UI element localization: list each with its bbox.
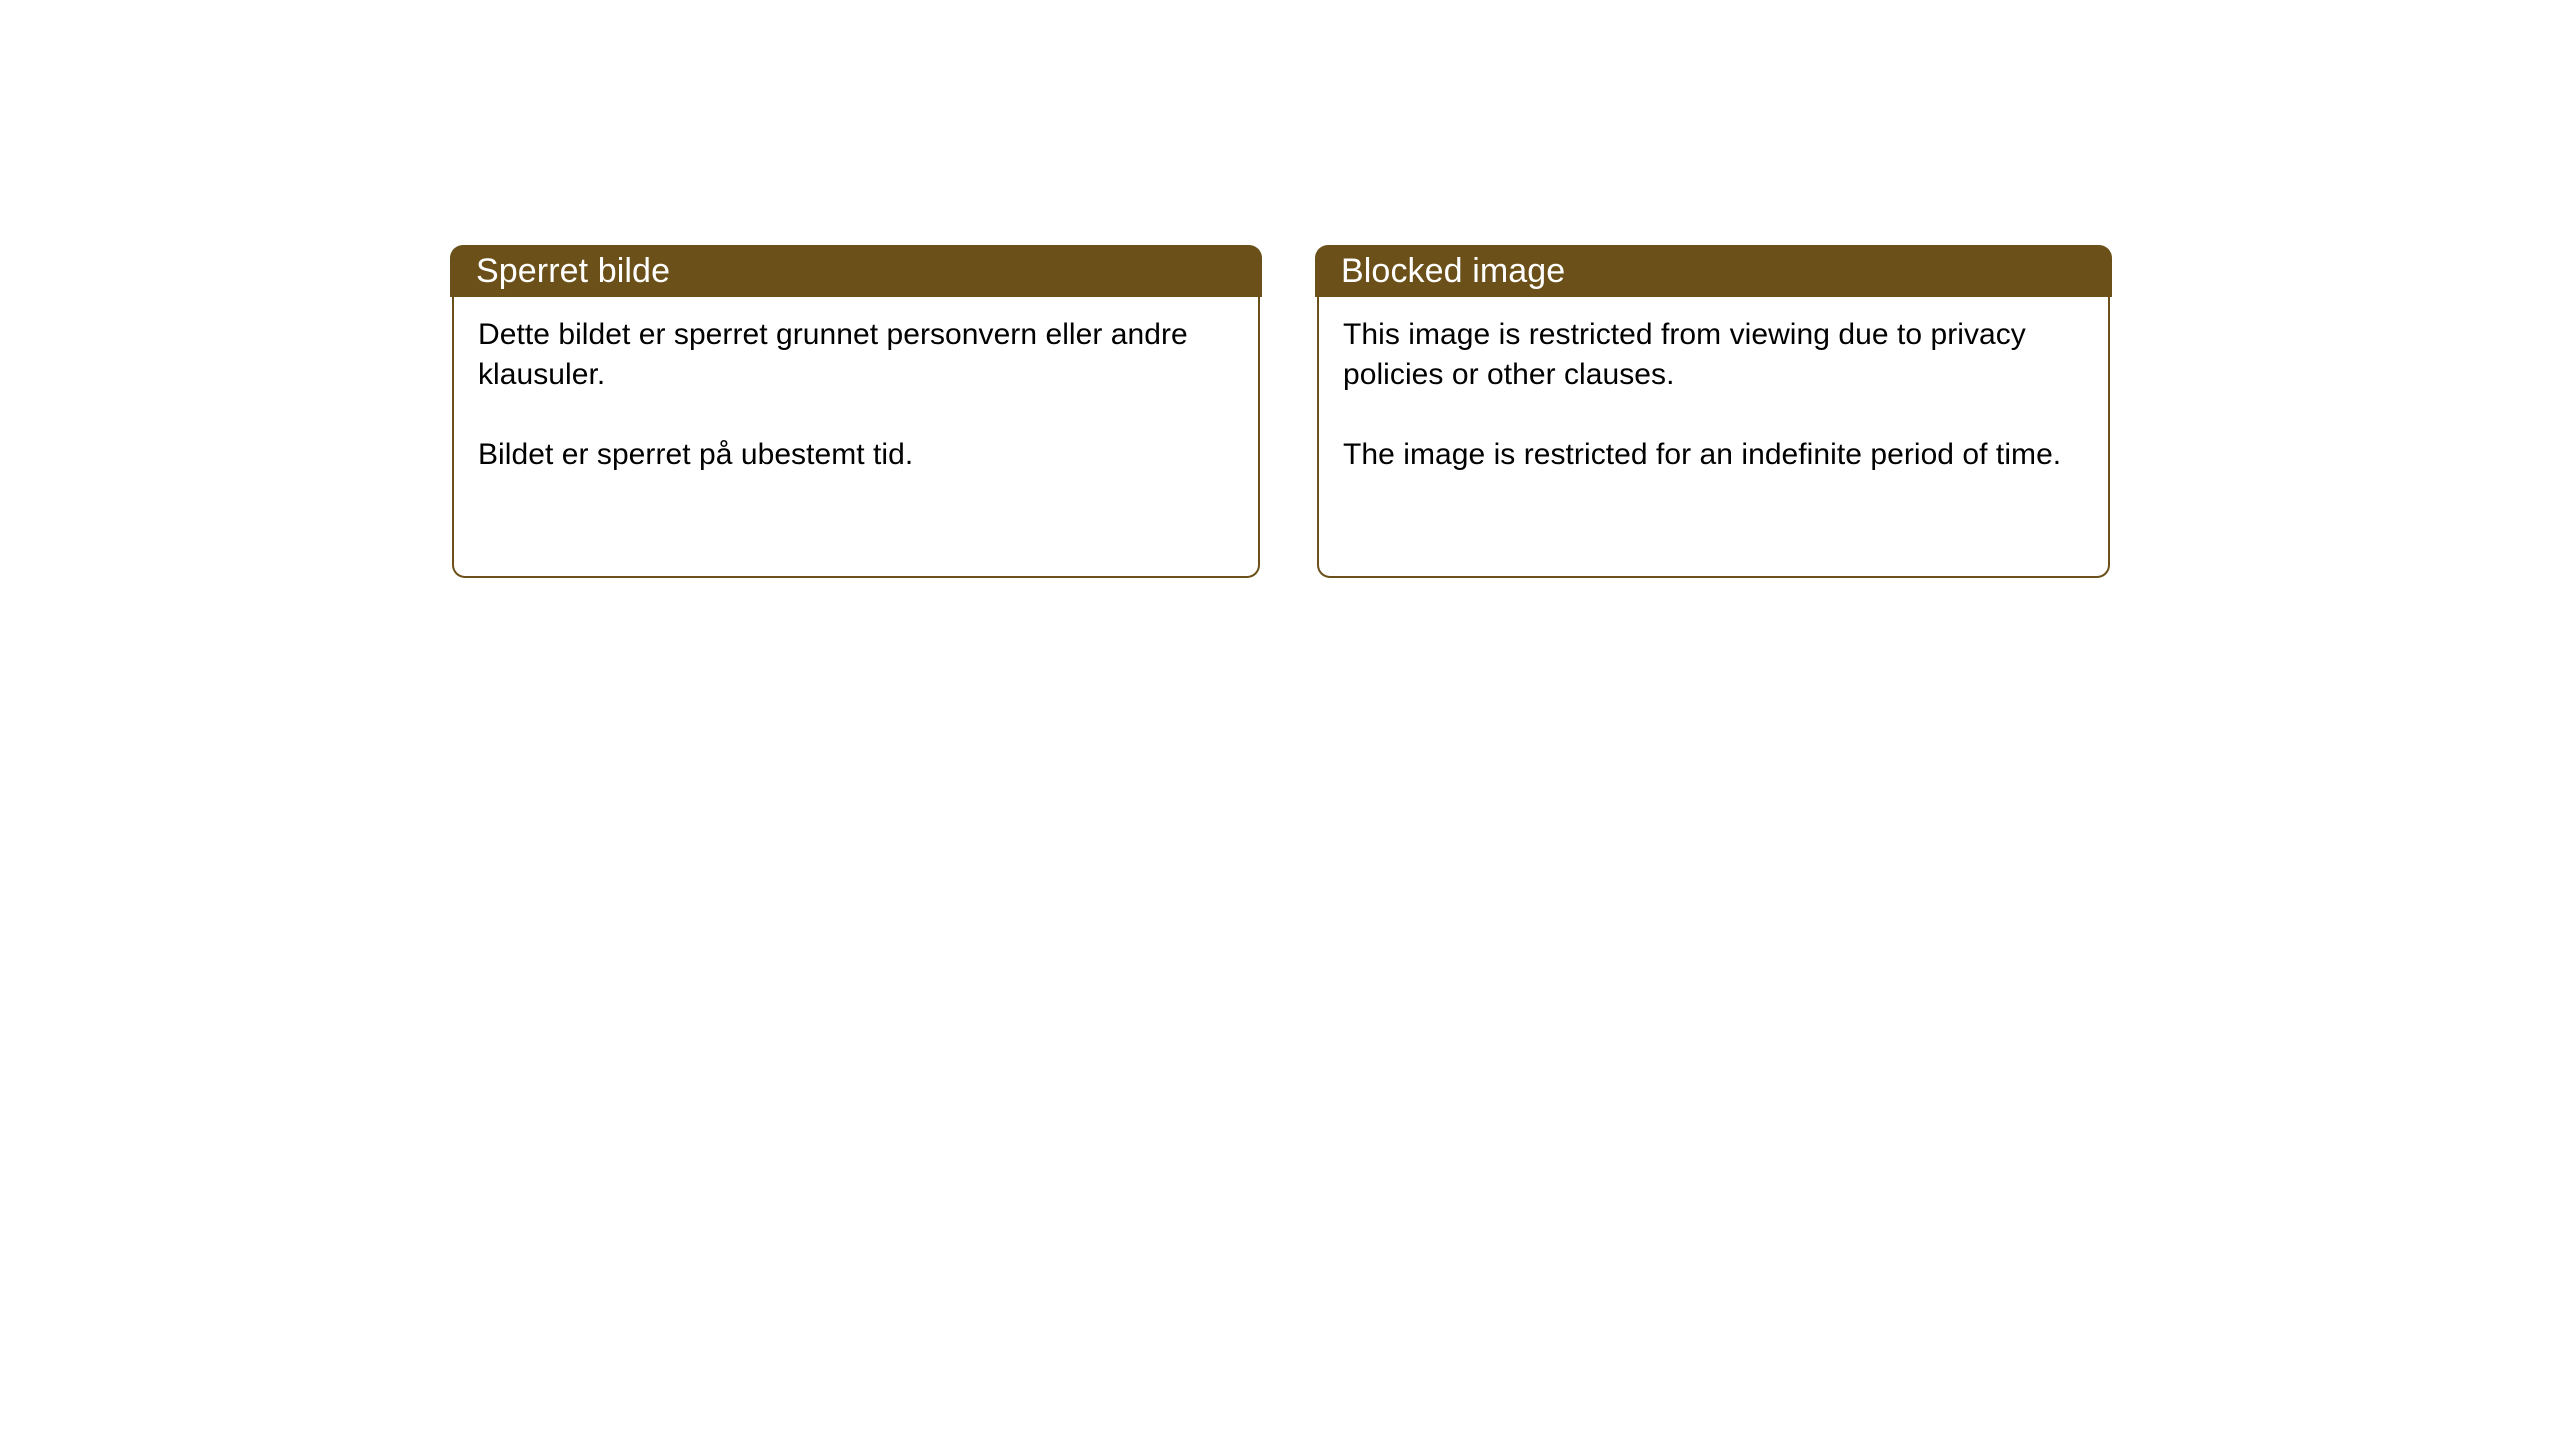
- panel-paragraph-english-2: The image is restricted for an indefinit…: [1343, 435, 2082, 475]
- page-root: Sperret bilde Dette bildet er sperret gr…: [0, 0, 2560, 1440]
- panel-paragraph-norwegian-1: Dette bildet er sperret grunnet personve…: [478, 315, 1232, 395]
- blocked-image-notice-group: Sperret bilde Dette bildet er sperret gr…: [450, 245, 2112, 578]
- blocked-image-panel-english: Blocked image This image is restricted f…: [1315, 245, 2112, 578]
- panel-paragraph-english-1: This image is restricted from viewing du…: [1343, 315, 2082, 395]
- panel-body-norwegian: Dette bildet er sperret grunnet personve…: [452, 297, 1260, 578]
- panel-body-english: This image is restricted from viewing du…: [1317, 297, 2110, 578]
- panel-title-norwegian: Sperret bilde: [476, 251, 670, 291]
- blocked-image-panel-norwegian: Sperret bilde Dette bildet er sperret gr…: [450, 245, 1262, 578]
- panel-paragraph-norwegian-2: Bildet er sperret på ubestemt tid.: [478, 435, 1232, 475]
- panel-title-english: Blocked image: [1341, 251, 1565, 291]
- panel-header-norwegian: Sperret bilde: [450, 245, 1262, 297]
- panel-header-english: Blocked image: [1315, 245, 2112, 297]
